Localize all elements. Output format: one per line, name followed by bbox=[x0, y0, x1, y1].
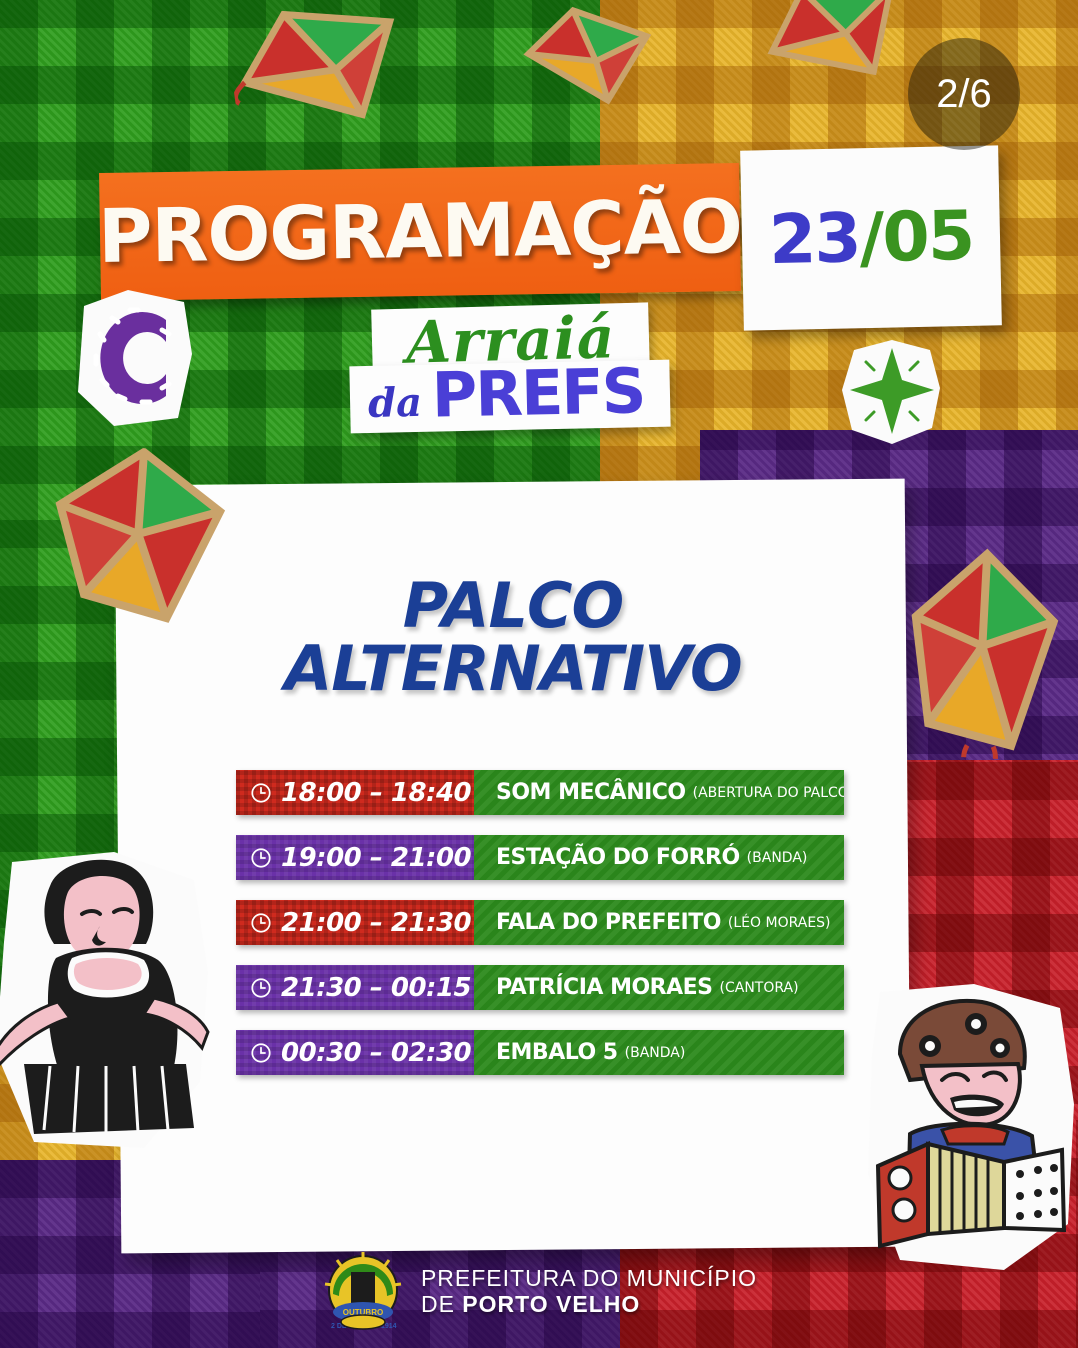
schedule-act-name: FALA DO PREFEITO bbox=[496, 910, 721, 935]
clock-icon bbox=[250, 847, 272, 869]
accordion-player-illustration bbox=[864, 984, 1078, 1274]
schedule-time-cell: 21:30 – 00:15 bbox=[236, 965, 474, 1010]
clock-icon bbox=[250, 977, 272, 999]
schedule-row: 19:00 – 21:00 ESTAÇÃO DO FORRÓ (BANDA) bbox=[236, 835, 844, 880]
festa-lantern-icon bbox=[901, 544, 1064, 762]
schedule-act-cell: ESTAÇÃO DO FORRÓ (BANDA) bbox=[474, 835, 844, 880]
festa-lantern-icon bbox=[515, 0, 658, 121]
schedule-act-name: PATRÍCIA MORAES bbox=[496, 975, 713, 1000]
prefs-name-text: PREFS bbox=[431, 362, 645, 425]
footer-text-block: PREFEITURA DO MUNICÍPIO DE PORTO VELHO bbox=[421, 1266, 757, 1318]
schedule-time-cell: 00:30 – 02:30 bbox=[236, 1030, 474, 1075]
date-month: /05 bbox=[859, 196, 974, 277]
programacao-banner: PROGRAMAÇÃO bbox=[99, 163, 741, 301]
festa-lantern-icon bbox=[46, 442, 232, 634]
schedule-act-note: (LÉO MORAES) bbox=[728, 915, 831, 931]
footer-city-name: PORTO VELHO bbox=[462, 1291, 640, 1317]
schedule-time: 19:00 – 21:00 bbox=[281, 843, 471, 873]
schedule-row: 00:30 – 02:30 EMBALO 5 (BANDA) bbox=[236, 1030, 844, 1075]
schedule-act-note: (BANDA) bbox=[625, 1045, 686, 1061]
banner-title: PROGRAMAÇÃO bbox=[99, 163, 741, 301]
schedule-act-cell: EMBALO 5 (BANDA) bbox=[474, 1030, 844, 1075]
footer-line-2-prefix: DE bbox=[421, 1291, 462, 1317]
schedule-act-cell: PATRÍCIA MORAES (CANTORA) bbox=[474, 965, 844, 1010]
stage-title: PALCO ALTERNATIVO bbox=[118, 574, 908, 700]
dancer-woman-illustration bbox=[0, 852, 212, 1152]
event-date-card: 23/05 bbox=[740, 145, 1002, 330]
schedule-row: 21:30 – 00:15 PATRÍCIA MORAES (CANTORA) bbox=[236, 965, 844, 1010]
prefs-prefix-text: da bbox=[368, 379, 423, 427]
schedule-time: 00:30 – 02:30 bbox=[281, 1038, 471, 1068]
festa-lantern-icon bbox=[223, 0, 417, 154]
schedule-row: 18:00 – 18:40 SOM MECÂNICO (ABERTURA DO … bbox=[236, 770, 844, 815]
porto-velho-crest-icon: OUTUBRO 2 DE 1914 bbox=[321, 1250, 405, 1334]
clock-icon bbox=[250, 1042, 272, 1064]
footer-line-2: DE PORTO VELHO bbox=[421, 1292, 757, 1318]
schedule-time-cell: 18:00 – 18:40 bbox=[236, 770, 474, 815]
stage-title-line1: PALCO bbox=[118, 574, 908, 637]
stage-title-line2: ALTERNATIVO bbox=[118, 637, 908, 700]
schedule-time: 18:00 – 18:40 bbox=[281, 778, 471, 808]
schedule-time: 21:00 – 21:30 bbox=[281, 908, 471, 938]
schedule-act-name: EMBALO 5 bbox=[496, 1040, 618, 1065]
clock-icon bbox=[250, 912, 272, 934]
schedule-act-cell: SOM MECÂNICO (ABERTURA DO PALCO) bbox=[474, 770, 844, 815]
schedule-act-name: SOM MECÂNICO bbox=[496, 780, 686, 805]
prefs-plate: da PREFS bbox=[349, 360, 671, 434]
schedule-time: 21:30 – 00:15 bbox=[281, 973, 471, 1003]
schedule-act-note: (CANTORA) bbox=[720, 980, 799, 996]
date-day: 23 bbox=[768, 199, 860, 280]
schedule-row: 21:00 – 21:30 FALA DO PREFEITO (LÉO MORA… bbox=[236, 900, 844, 945]
event-logo-lockup: Arraiá da PREFS bbox=[372, 306, 670, 430]
clock-icon bbox=[250, 782, 272, 804]
green-star-sticker bbox=[836, 336, 948, 448]
schedule-paper-panel: PALCO ALTERNATIVO 18:00 – 18:40 SOM MECÂ… bbox=[115, 479, 912, 1254]
schedule-time-cell: 19:00 – 21:00 bbox=[236, 835, 474, 880]
page-indicator-badge: 2/6 bbox=[908, 38, 1020, 150]
schedule-time-cell: 21:00 – 21:30 bbox=[236, 900, 474, 945]
schedule-list: 18:00 – 18:40 SOM MECÂNICO (ABERTURA DO … bbox=[236, 770, 844, 1095]
schedule-act-note: (BANDA) bbox=[747, 850, 808, 866]
footer-line-1: PREFEITURA DO MUNICÍPIO bbox=[421, 1266, 757, 1292]
schedule-act-cell: FALA DO PREFEITO (LÉO MORAES) bbox=[474, 900, 844, 945]
schedule-act-name: ESTAÇÃO DO FORRÓ bbox=[496, 845, 740, 870]
letter-c-sticker bbox=[70, 288, 198, 428]
schedule-act-note: (ABERTURA DO PALCO) bbox=[693, 785, 844, 801]
